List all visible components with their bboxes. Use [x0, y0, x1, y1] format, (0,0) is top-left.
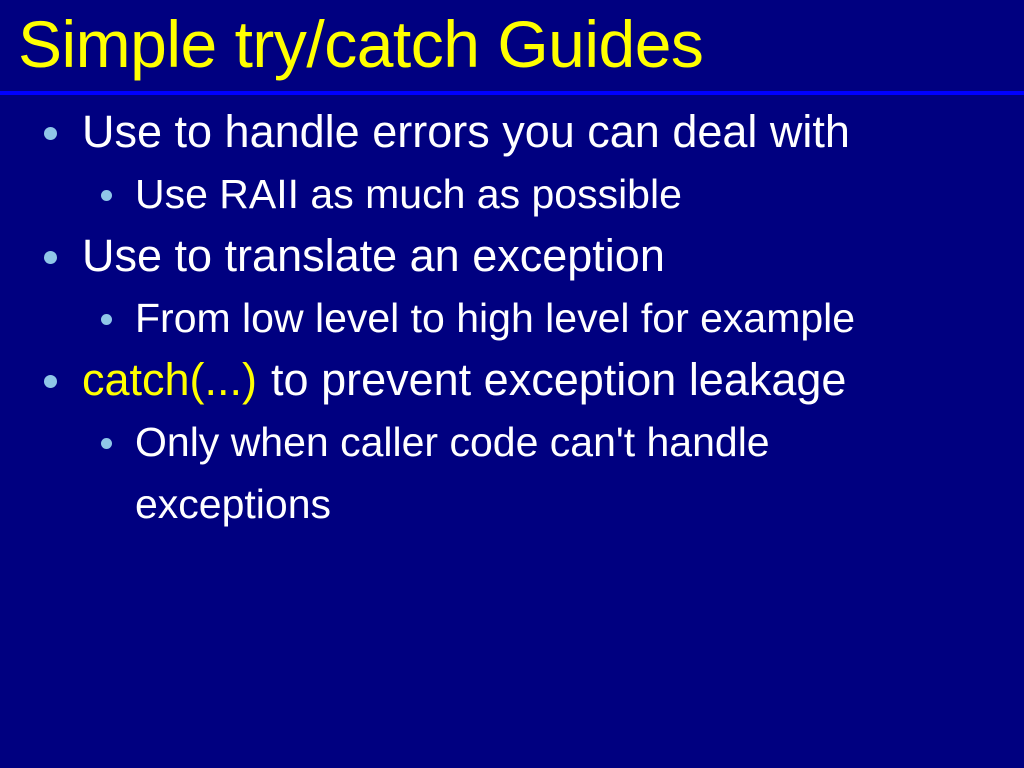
bullet-dot-icon [44, 127, 57, 140]
bullet-dot-icon [101, 190, 112, 201]
list-item: Only when caller code can't handle excep… [0, 411, 1024, 535]
list-item-label: Use to translate an exception [82, 225, 962, 287]
list-item: Use to handle errors you can deal with [0, 101, 1024, 163]
list-item-label: Only when caller code can't handle excep… [135, 411, 935, 535]
list-item-label: Use RAII as much as possible [135, 163, 935, 225]
list-item-label: From low level to high level for example [135, 287, 935, 349]
list-item: Use RAII as much as possible [0, 163, 1024, 225]
title-bar: Simple try/catch Guides [0, 0, 1024, 92]
bullet-dot-icon [44, 251, 57, 264]
list-item: Use to translate an exception [0, 225, 1024, 287]
bullet-dot-icon [101, 314, 112, 325]
list-item-label: Use to handle errors you can deal with [82, 101, 962, 163]
slide-body: Use to handle errors you can deal with U… [0, 101, 1024, 535]
list-item: catch(...)to prevent exception leakage [0, 349, 1024, 411]
list-item: From low level to high level for example [0, 287, 1024, 349]
list-item-label-rest: to prevent exception leakage [271, 354, 846, 405]
code-keyword: catch(...) [82, 354, 257, 405]
bullet-dot-icon [44, 375, 57, 388]
title-divider [0, 91, 1024, 95]
list-item-label: catch(...)to prevent exception leakage [82, 349, 962, 411]
slide: Simple try/catch Guides Use to handle er… [0, 0, 1024, 768]
page-title: Simple try/catch Guides [18, 6, 703, 82]
bullet-dot-icon [101, 438, 112, 449]
